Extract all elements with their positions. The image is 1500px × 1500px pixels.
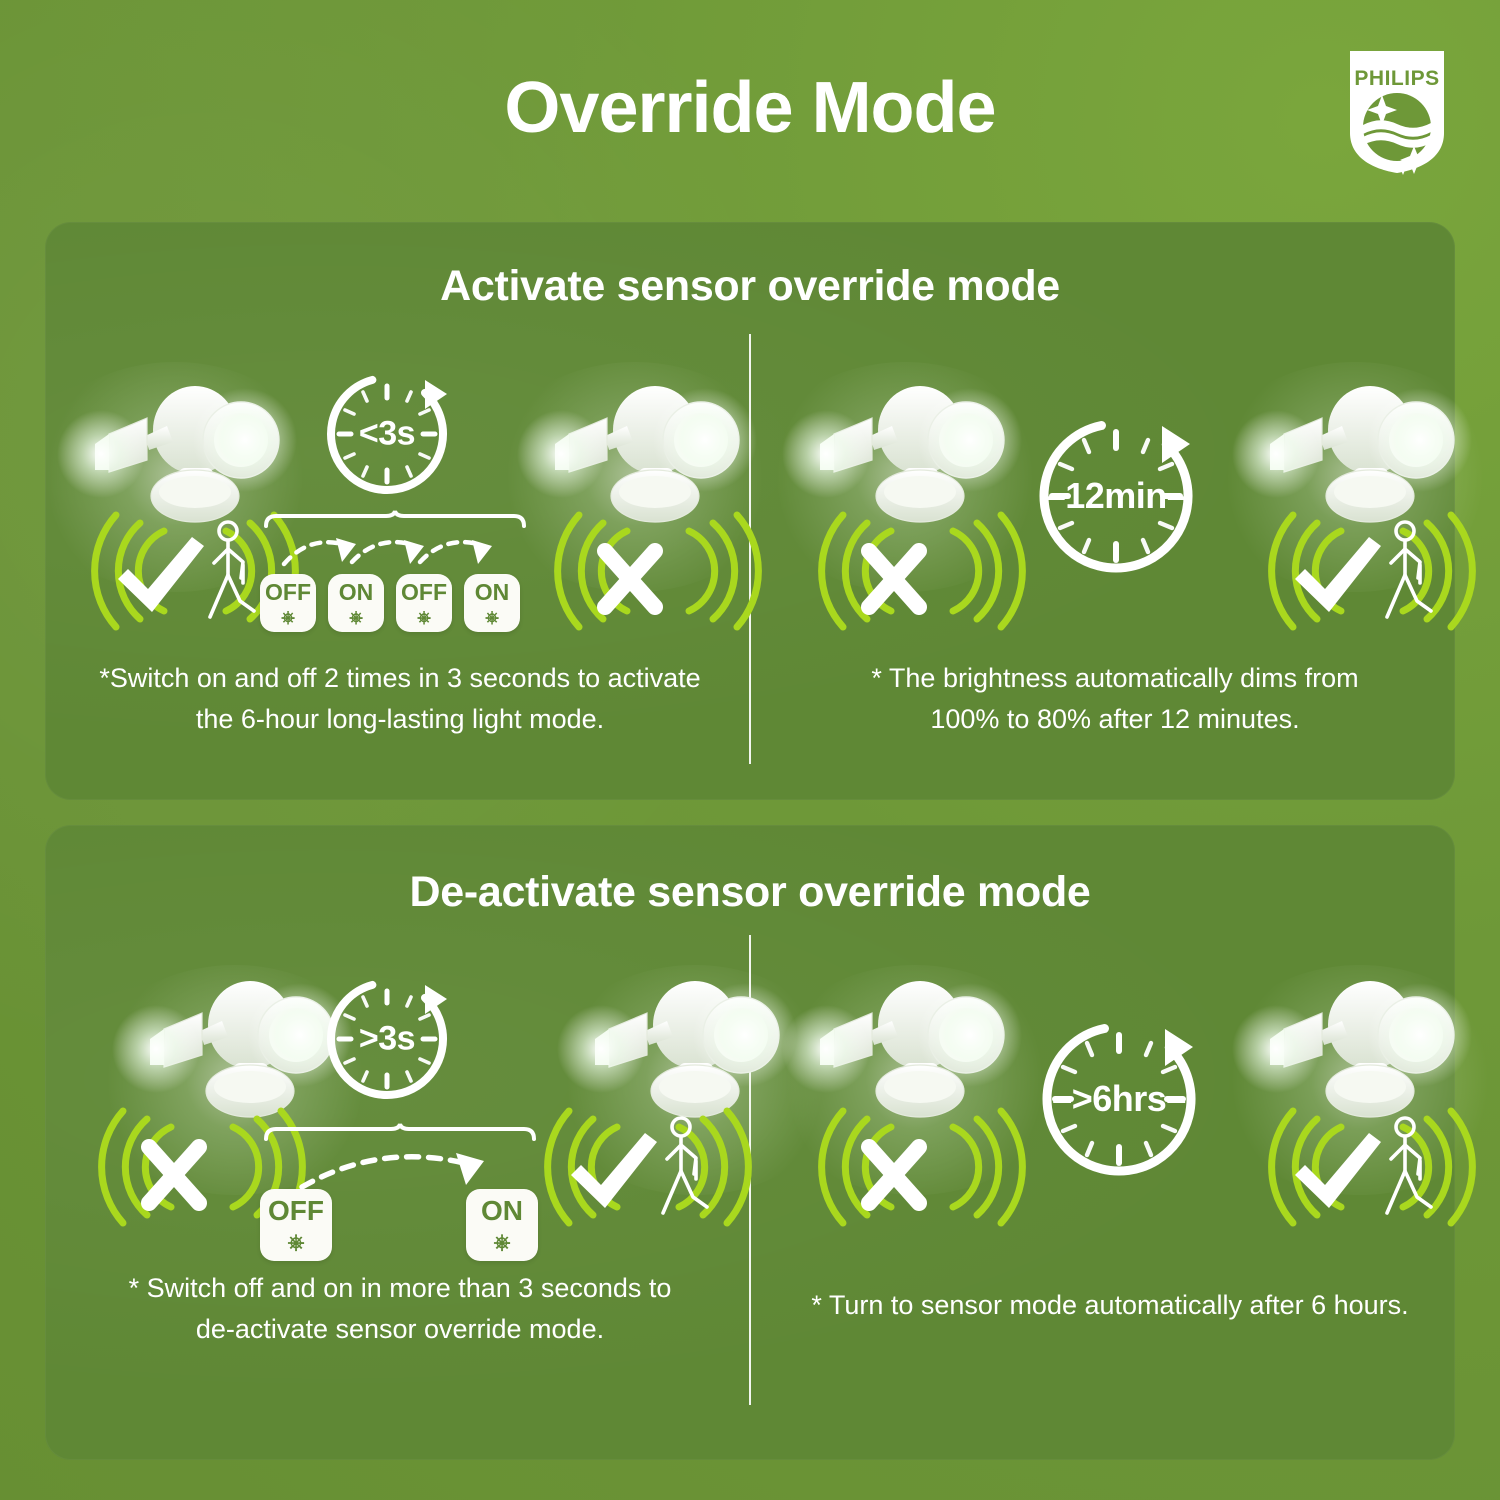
timer-suffix-dash: – <box>1166 1078 1186 1119</box>
timer-label: –>6hrs– <box>1033 1078 1205 1120</box>
switch-on-1[interactable]: ON ⎈ <box>328 574 384 632</box>
timer-value: 12min <box>1065 475 1167 516</box>
timer-clock-gt6hrs: –>6hrs– <box>1033 1013 1205 1185</box>
caption-line: *Switch on and off 2 times in 3 seconds … <box>75 658 725 699</box>
power-icon: ⎈ <box>485 609 499 626</box>
timer-label: >3s <box>321 1020 453 1059</box>
caption-deactivate-right: * Turn to sensor mode automatically afte… <box>775 1285 1445 1326</box>
motion-sensor-waves-icon <box>1277 507 1467 637</box>
panel-title-activate: Activate sensor override mode <box>45 262 1455 311</box>
switch-row: OFF ⎈ ON ⎈ OFF ⎈ ON ⎈ <box>260 574 530 632</box>
switch-label: ON <box>481 1197 523 1225</box>
cross-mark-icon <box>869 1147 919 1203</box>
panel-deactivate-sensor-override: De-activate sensor override mode <box>45 825 1455 1460</box>
caption-line: * Turn to sensor mode automatically afte… <box>775 1285 1445 1326</box>
security-light-fixture-icon <box>1250 973 1490 1113</box>
timer-clock-gt3s: >3s <box>321 973 453 1105</box>
caption-line: the 6-hour long-lasting light mode. <box>75 699 725 740</box>
caption-line: * The brightness automatically dims from <box>805 658 1425 699</box>
timer-prefix-dash: – <box>1052 1078 1072 1119</box>
timer-value: >6hrs <box>1072 1078 1167 1119</box>
switch-sequence-deactivate: OFF ⎈ ON ⎈ <box>260 1125 540 1255</box>
timer-clock-lt3s: <3s <box>321 368 453 500</box>
cross-mark-icon <box>869 551 919 607</box>
switch-on-2[interactable]: ON ⎈ <box>464 574 520 632</box>
switch-off[interactable]: OFF ⎈ <box>260 1189 332 1261</box>
power-icon: ⎈ <box>349 609 363 626</box>
switch-on[interactable]: ON ⎈ <box>466 1189 538 1261</box>
check-mark-icon <box>1295 537 1381 612</box>
motion-sensor-waves-icon <box>827 507 1017 637</box>
switch-off-1[interactable]: OFF ⎈ <box>260 574 316 632</box>
switch-label: OFF <box>265 581 311 604</box>
switch-off-2[interactable]: OFF ⎈ <box>396 574 452 632</box>
switch-row: OFF ⎈ ON ⎈ <box>260 1189 540 1261</box>
power-icon: ⎈ <box>417 609 431 626</box>
switch-sequence-activate: OFF ⎈ ON ⎈ OFF ⎈ ON ⎈ <box>260 512 530 632</box>
security-light-fixture-icon <box>535 378 775 518</box>
motion-sensor-waves-icon <box>1277 1103 1467 1233</box>
caption-activate-right: * The brightness automatically dims from… <box>805 658 1425 740</box>
power-icon: ⎈ <box>281 609 295 626</box>
caption-line: 100% to 80% after 12 minutes. <box>805 699 1425 740</box>
switch-label: OFF <box>268 1197 324 1225</box>
philips-shield-logo: PHILIPS <box>1344 45 1450 177</box>
motion-sensor-waves-icon <box>563 507 753 637</box>
check-mark-icon <box>118 537 204 612</box>
cross-mark-icon <box>149 1147 199 1203</box>
timer-clock-12min: –12min– <box>1030 410 1202 582</box>
switch-label: ON <box>339 581 374 604</box>
caption-line: * Switch off and on in more than 3 secon… <box>85 1268 715 1309</box>
security-light-fixture-icon <box>1250 378 1490 518</box>
timer-label: <3s <box>321 415 453 454</box>
motion-sensor-waves-icon <box>553 1103 743 1233</box>
power-icon: ⎈ <box>288 1232 305 1253</box>
motion-sensor-waves-icon <box>827 1103 1017 1233</box>
switch-flow-arrows <box>260 512 530 574</box>
switch-flow-arrows <box>260 1125 540 1195</box>
caption-deactivate-left: * Switch off and on in more than 3 secon… <box>85 1268 715 1350</box>
cross-mark-icon <box>605 551 655 607</box>
security-light-fixture-icon <box>800 378 1040 518</box>
caption-line: de-activate sensor override mode. <box>85 1309 715 1350</box>
security-light-fixture-icon <box>800 973 1040 1113</box>
timer-prefix-dash: – <box>1046 475 1066 516</box>
timer-suffix-dash: – <box>1167 475 1187 516</box>
panel-title-deactivate: De-activate sensor override mode <box>45 868 1455 917</box>
infographic-page: Override Mode PHILIPS Activate sensor ov… <box>0 0 1500 1500</box>
check-mark-icon <box>571 1133 657 1208</box>
switch-label: ON <box>475 581 510 604</box>
switch-label: OFF <box>401 581 447 604</box>
caption-activate-left: *Switch on and off 2 times in 3 seconds … <box>75 658 725 740</box>
panel-activate-sensor-override: Activate sensor override mode <box>45 222 1455 800</box>
check-mark-icon <box>1295 1133 1381 1208</box>
page-title: Override Mode <box>0 72 1500 144</box>
svg-text:PHILIPS: PHILIPS <box>1354 67 1439 90</box>
security-light-fixture-icon <box>75 378 315 518</box>
security-light-fixture-icon <box>575 973 815 1113</box>
timer-label: –12min– <box>1030 475 1202 517</box>
power-icon: ⎈ <box>494 1232 511 1253</box>
